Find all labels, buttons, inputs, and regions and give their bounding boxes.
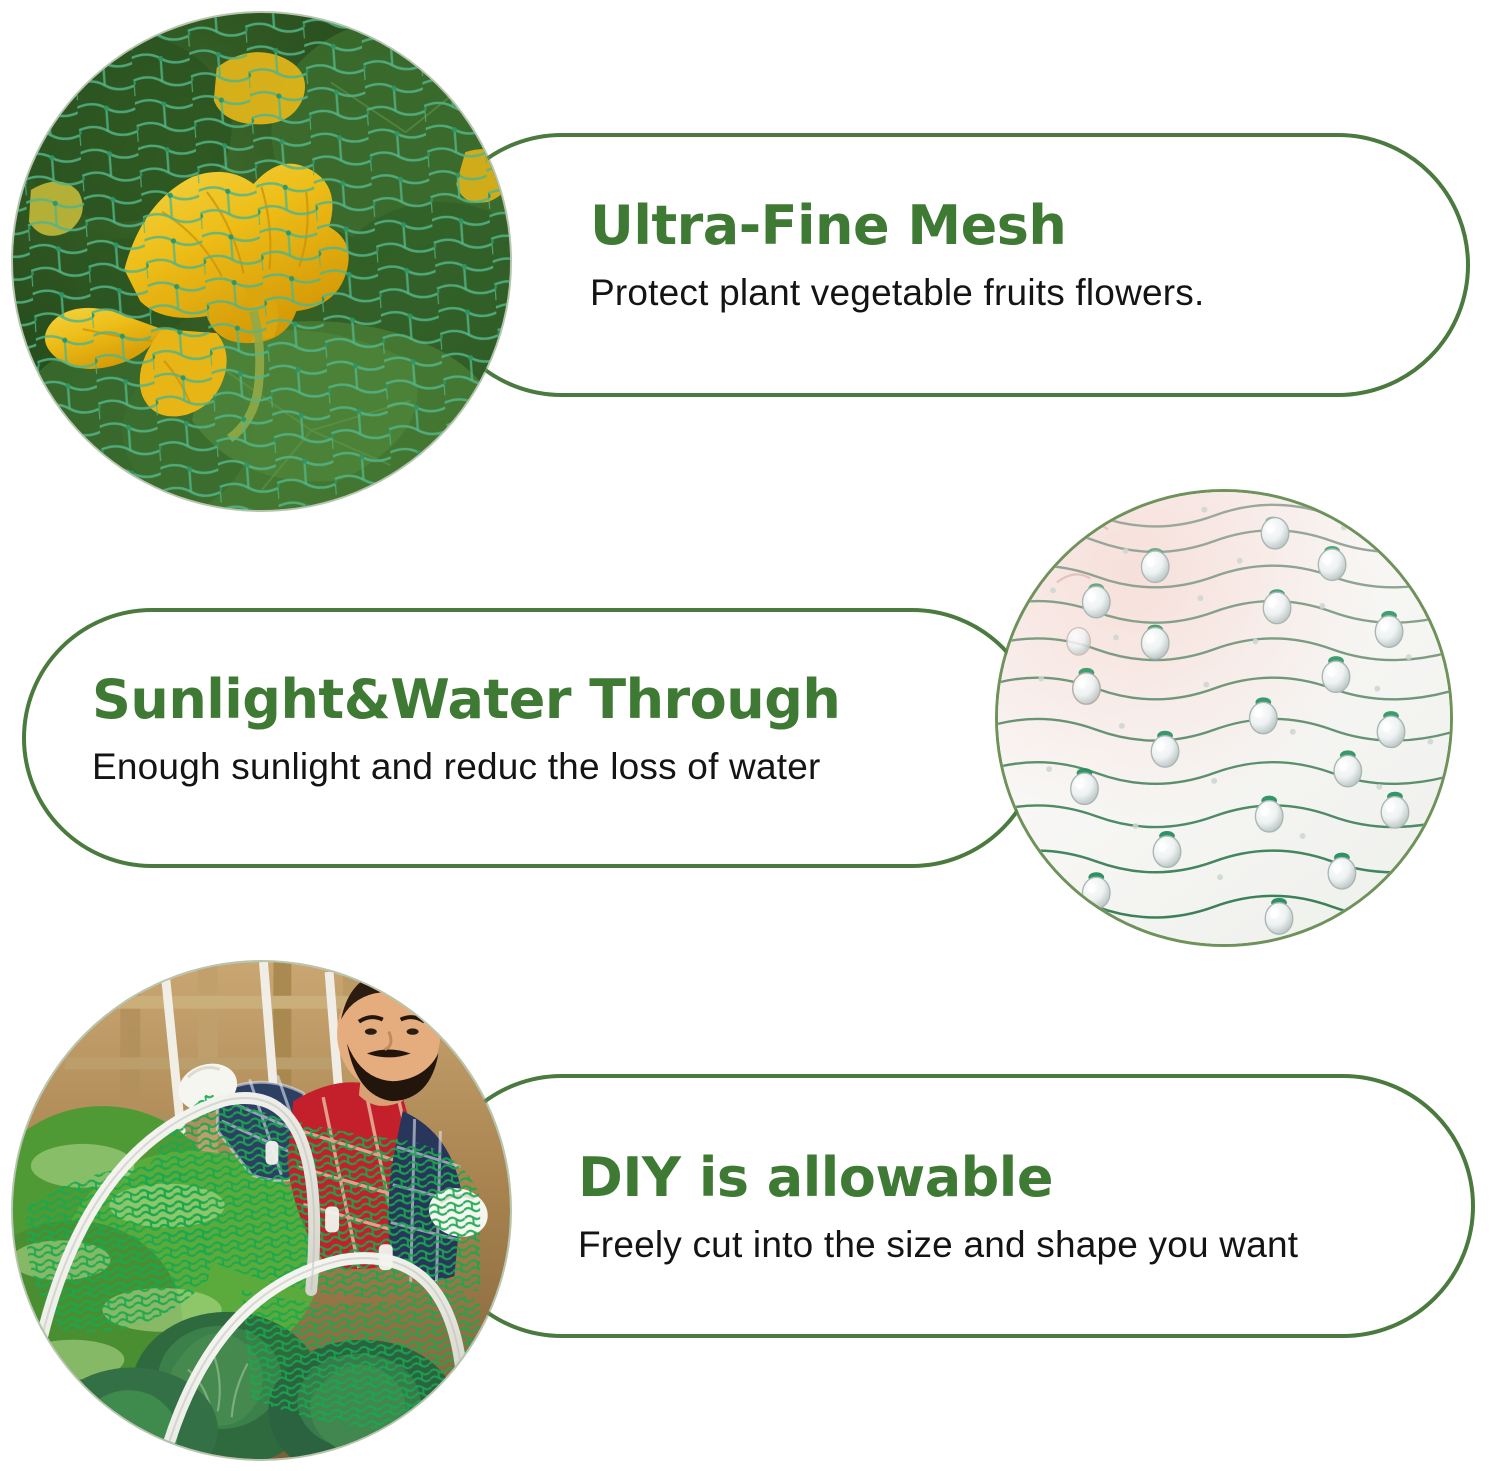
feature-text-block-2: Sunlight&Water Through Enough sunlight a… — [92, 672, 840, 789]
feature-highlights-page: Ultra-Fine Mesh Protect plant vegetable … — [0, 0, 1500, 1471]
feature-subheading-2: Enough sunlight and reduc the loss of wa… — [92, 745, 840, 789]
feature-heading-2: Sunlight&Water Through — [92, 672, 840, 729]
feature-text-block-3: DIY is allowable Freely cut into the siz… — [578, 1150, 1298, 1267]
feature-subheading-1: Protect plant vegetable fruits flowers. — [590, 271, 1205, 315]
feature-subheading-3: Freely cut into the size and shape you w… — [578, 1223, 1298, 1267]
mesh-over-squash-flowers-photo — [13, 13, 510, 510]
feature-text-block-1: Ultra-Fine Mesh Protect plant vegetable … — [590, 198, 1205, 315]
gardener-installing-netting-photo — [13, 962, 510, 1459]
netting-with-water-droplets-photo — [998, 492, 1450, 944]
feature-heading-1: Ultra-Fine Mesh — [590, 198, 1205, 255]
feature-heading-3: DIY is allowable — [578, 1150, 1298, 1207]
